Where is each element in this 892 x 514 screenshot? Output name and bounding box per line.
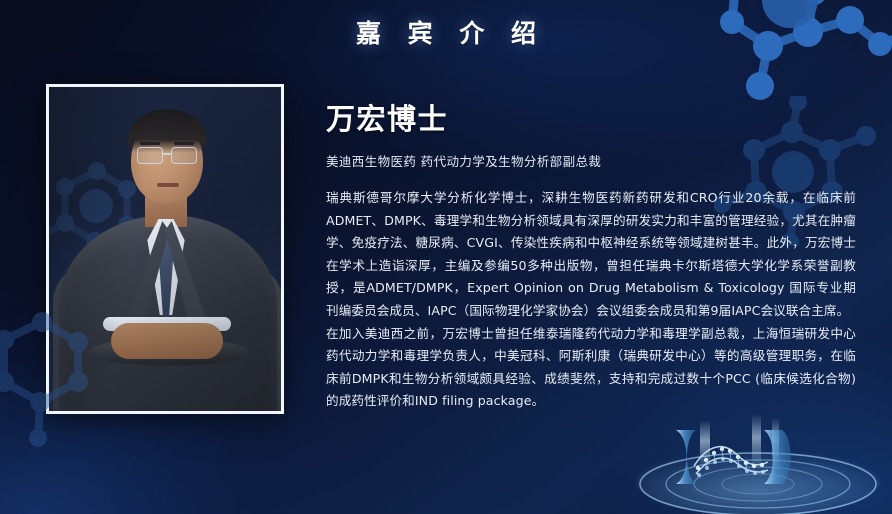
portrait-light-shading: [49, 87, 284, 414]
speaker-bio: 瑞典斯德哥尔摩大学分析化学博士，深耕生物医药新药研发和CRO行业20余载，在临床…: [326, 187, 856, 413]
speaker-role: 美迪西生物医药 药代动力学及生物分析部副总裁: [326, 151, 856, 170]
speaker-portrait-frame: [46, 84, 284, 414]
speaker-name: 万宏博士: [326, 96, 856, 138]
speaker-info-panel: 万宏博士 美迪西生物医药 药代动力学及生物分析部副总裁 瑞典斯德哥尔摩大学分析化…: [326, 96, 856, 413]
page-title: 嘉 宾 介 绍: [347, 14, 545, 50]
dna-hologram-decoration: [632, 404, 884, 514]
bio-paragraph: 在加入美迪西之前，万宏博士曾担任维泰瑞隆药代动力学和毒理学副总裁，上海恒瑞研发中…: [326, 323, 856, 413]
page-title-container: 嘉 宾 介 绍: [0, 14, 892, 50]
bio-paragraph: 瑞典斯德哥尔摩大学分析化学博士，深耕生物医药新药研发和CRO行业20余载，在临床…: [326, 187, 856, 323]
slide-canvas: 嘉 宾 介 绍: [0, 0, 892, 514]
